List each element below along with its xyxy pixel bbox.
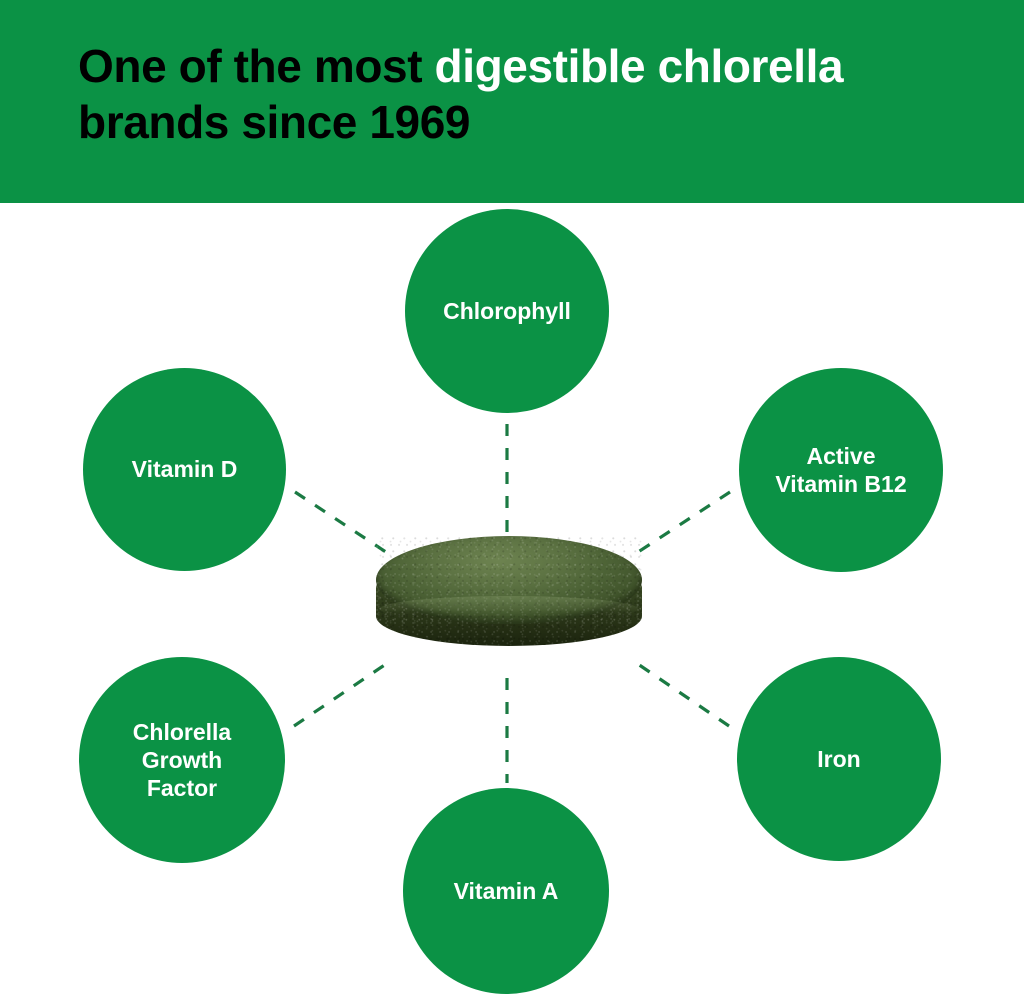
infographic-page: One of the most digestible chlorella bra… (0, 0, 1024, 994)
nutrient-label-chlorella-growth-factor: Chlorella Growth Factor (133, 718, 231, 802)
connector-line-iron (632, 660, 729, 726)
chlorella-tablet-image (376, 536, 642, 658)
nutrient-bubble-vitamin-a[interactable]: Vitamin A (403, 788, 609, 994)
nutrient-diagram: Chlorophyll Vitamin D Active Vitamin B12… (0, 0, 1024, 994)
nutrient-bubble-chlorella-growth-factor[interactable]: Chlorella Growth Factor (79, 657, 285, 863)
nutrient-label-vitamin-d: Vitamin D (132, 455, 238, 483)
connector-line-active-vitamin-b12 (632, 492, 730, 556)
nutrient-bubble-vitamin-d[interactable]: Vitamin D (83, 368, 286, 571)
tablet-top-texture (376, 536, 642, 624)
nutrient-label-vitamin-a: Vitamin A (454, 877, 559, 905)
nutrient-label-active-vitamin-b12: Active Vitamin B12 (775, 442, 906, 498)
nutrient-label-chlorophyll: Chlorophyll (443, 297, 571, 325)
tablet-top-surface (376, 536, 642, 624)
nutrient-bubble-iron[interactable]: Iron (737, 657, 941, 861)
nutrient-label-iron: Iron (817, 745, 860, 773)
nutrient-bubble-chlorophyll[interactable]: Chlorophyll (405, 209, 609, 413)
connector-line-chlorella-growth-factor (294, 660, 392, 726)
nutrient-bubble-active-vitamin-b12[interactable]: Active Vitamin B12 (739, 368, 943, 572)
